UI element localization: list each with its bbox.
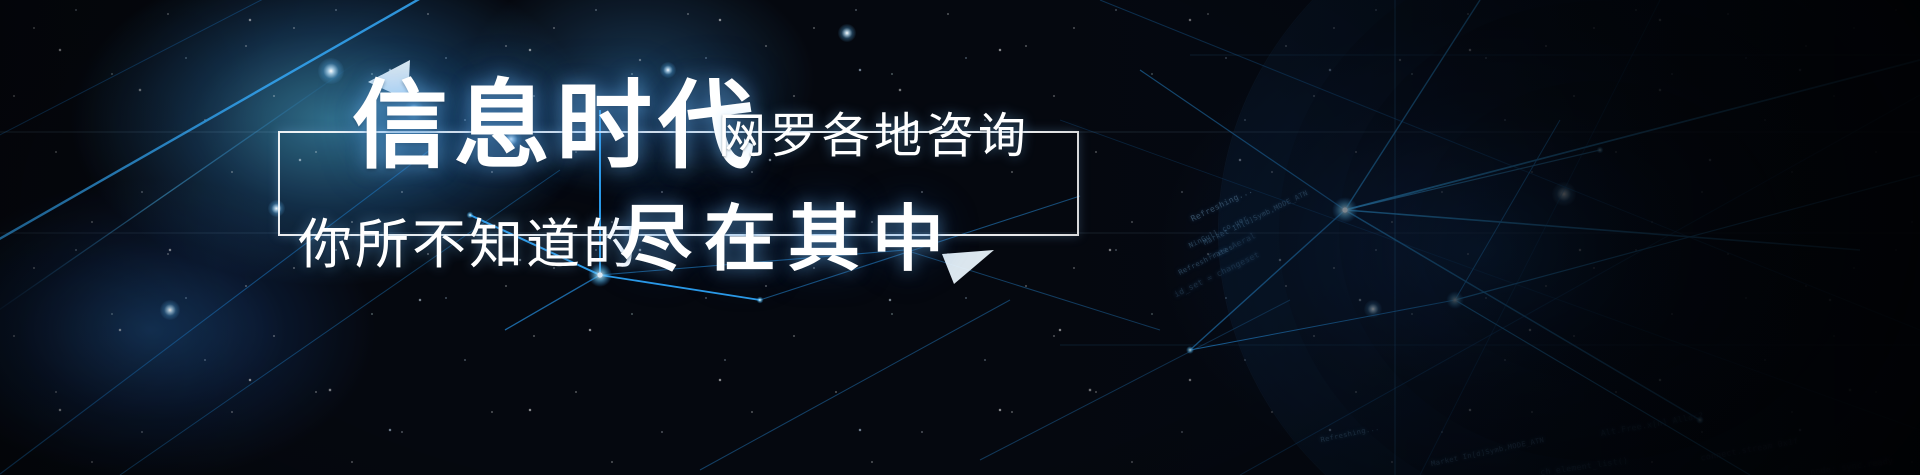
hero-banner: 信息时代 网罗各地咨询 你所不知道的 尽在其中 Refreshing... Ma… bbox=[0, 0, 1920, 475]
vignette-overlay bbox=[0, 0, 1920, 475]
